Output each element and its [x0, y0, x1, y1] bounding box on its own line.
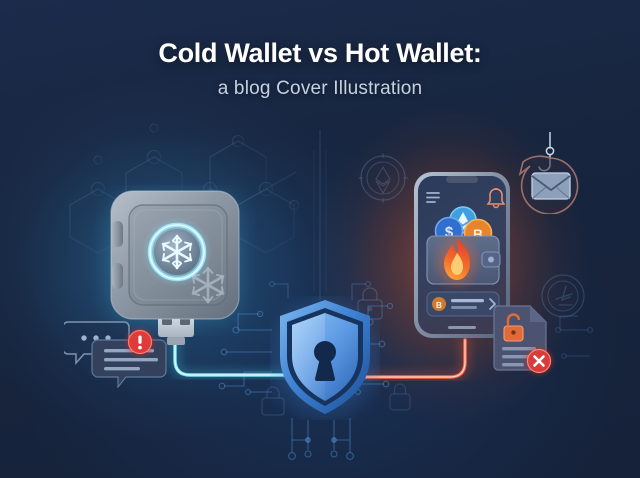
error-x-badge[interactable]: [525, 347, 553, 375]
security-shield[interactable]: [270, 296, 380, 420]
illustration-canvas: Cold Wallet vs Hot Wallet: a blog Cover …: [0, 0, 640, 478]
svg-text:B: B: [436, 300, 442, 310]
home-indicator: [448, 326, 476, 329]
safe-hinge-bottom: [112, 263, 123, 289]
page-subtitle: a blog Cover Illustration: [0, 78, 640, 100]
title-block: Cold Wallet vs Hot Wallet: a blog Cover …: [0, 38, 640, 100]
page-title: Cold Wallet vs Hot Wallet:: [0, 38, 640, 69]
snowflake-dial[interactable]: [142, 217, 212, 287]
phishing-speech-bubble[interactable]: [508, 132, 592, 214]
cold-wallet-notifications[interactable]: [64, 316, 176, 388]
alert-exclamation-badge[interactable]: [126, 328, 154, 356]
envelope-icon: [532, 173, 570, 199]
flame-icon: [437, 238, 477, 286]
phone-notch: [446, 176, 478, 183]
safe-hinge-top: [112, 221, 123, 247]
breached-document[interactable]: [486, 300, 560, 378]
